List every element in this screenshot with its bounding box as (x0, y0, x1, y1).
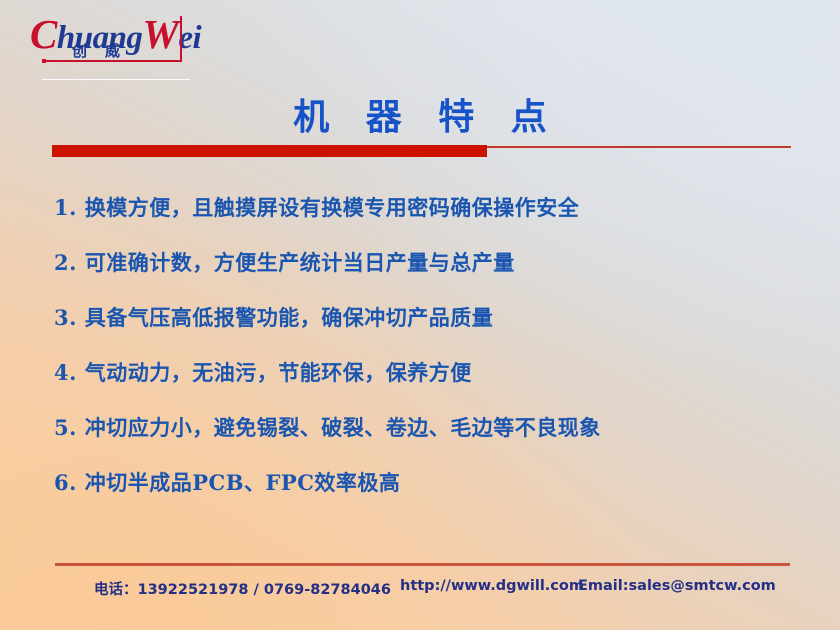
footer-phone: 电话：13922521978 / 0769-82784046 (94, 578, 391, 599)
list-item: 3. 具备气压高低报警功能，确保冲切产品质量 (54, 298, 794, 353)
company-logo: ChuangWei 创威 (26, 12, 186, 68)
feature-list: 1. 换模方便，且触摸屏设有换模专用密码确保操作安全 2. 可准确计数，方便生产… (54, 188, 794, 518)
page-title: 机 器 特 点 (0, 88, 840, 140)
logo-accent-dot (42, 59, 46, 63)
list-item: 4. 气动动力，无油污，节能环保，保养方便 (54, 353, 794, 408)
footer-email-link[interactable]: Email:sales@smtcw.com (578, 578, 776, 594)
title-divider-thick (52, 145, 487, 157)
footer-divider (55, 563, 790, 566)
logo-bracket-horizontal (44, 60, 182, 62)
logo-underline-rule (42, 78, 190, 80)
slide-canvas: ChuangWei 创威 机 器 特 点 1. 换模方便，且触摸屏设有换模专用密… (0, 0, 840, 630)
list-item: 2. 可准确计数，方便生产统计当日产量与总产量 (54, 243, 794, 298)
list-item: 5. 冲切应力小，避免锡裂、破裂、卷边、毛边等不良现象 (54, 408, 794, 463)
logo-chinese-name: 创威 (72, 40, 138, 61)
footer: 电话：13922521978 / 0769-82784046 http://ww… (0, 578, 840, 602)
list-item: 1. 换模方便，且触摸屏设有换模专用密码确保操作安全 (54, 188, 794, 243)
logo-letter-c: C (30, 11, 57, 57)
logo-bracket-vertical (180, 16, 182, 62)
footer-website-link[interactable]: http://www.dgwill.com (400, 578, 584, 594)
logo-letter-w: W (142, 11, 178, 57)
list-item: 6. 冲切半成品PCB、FPC效率极高 (54, 463, 794, 518)
